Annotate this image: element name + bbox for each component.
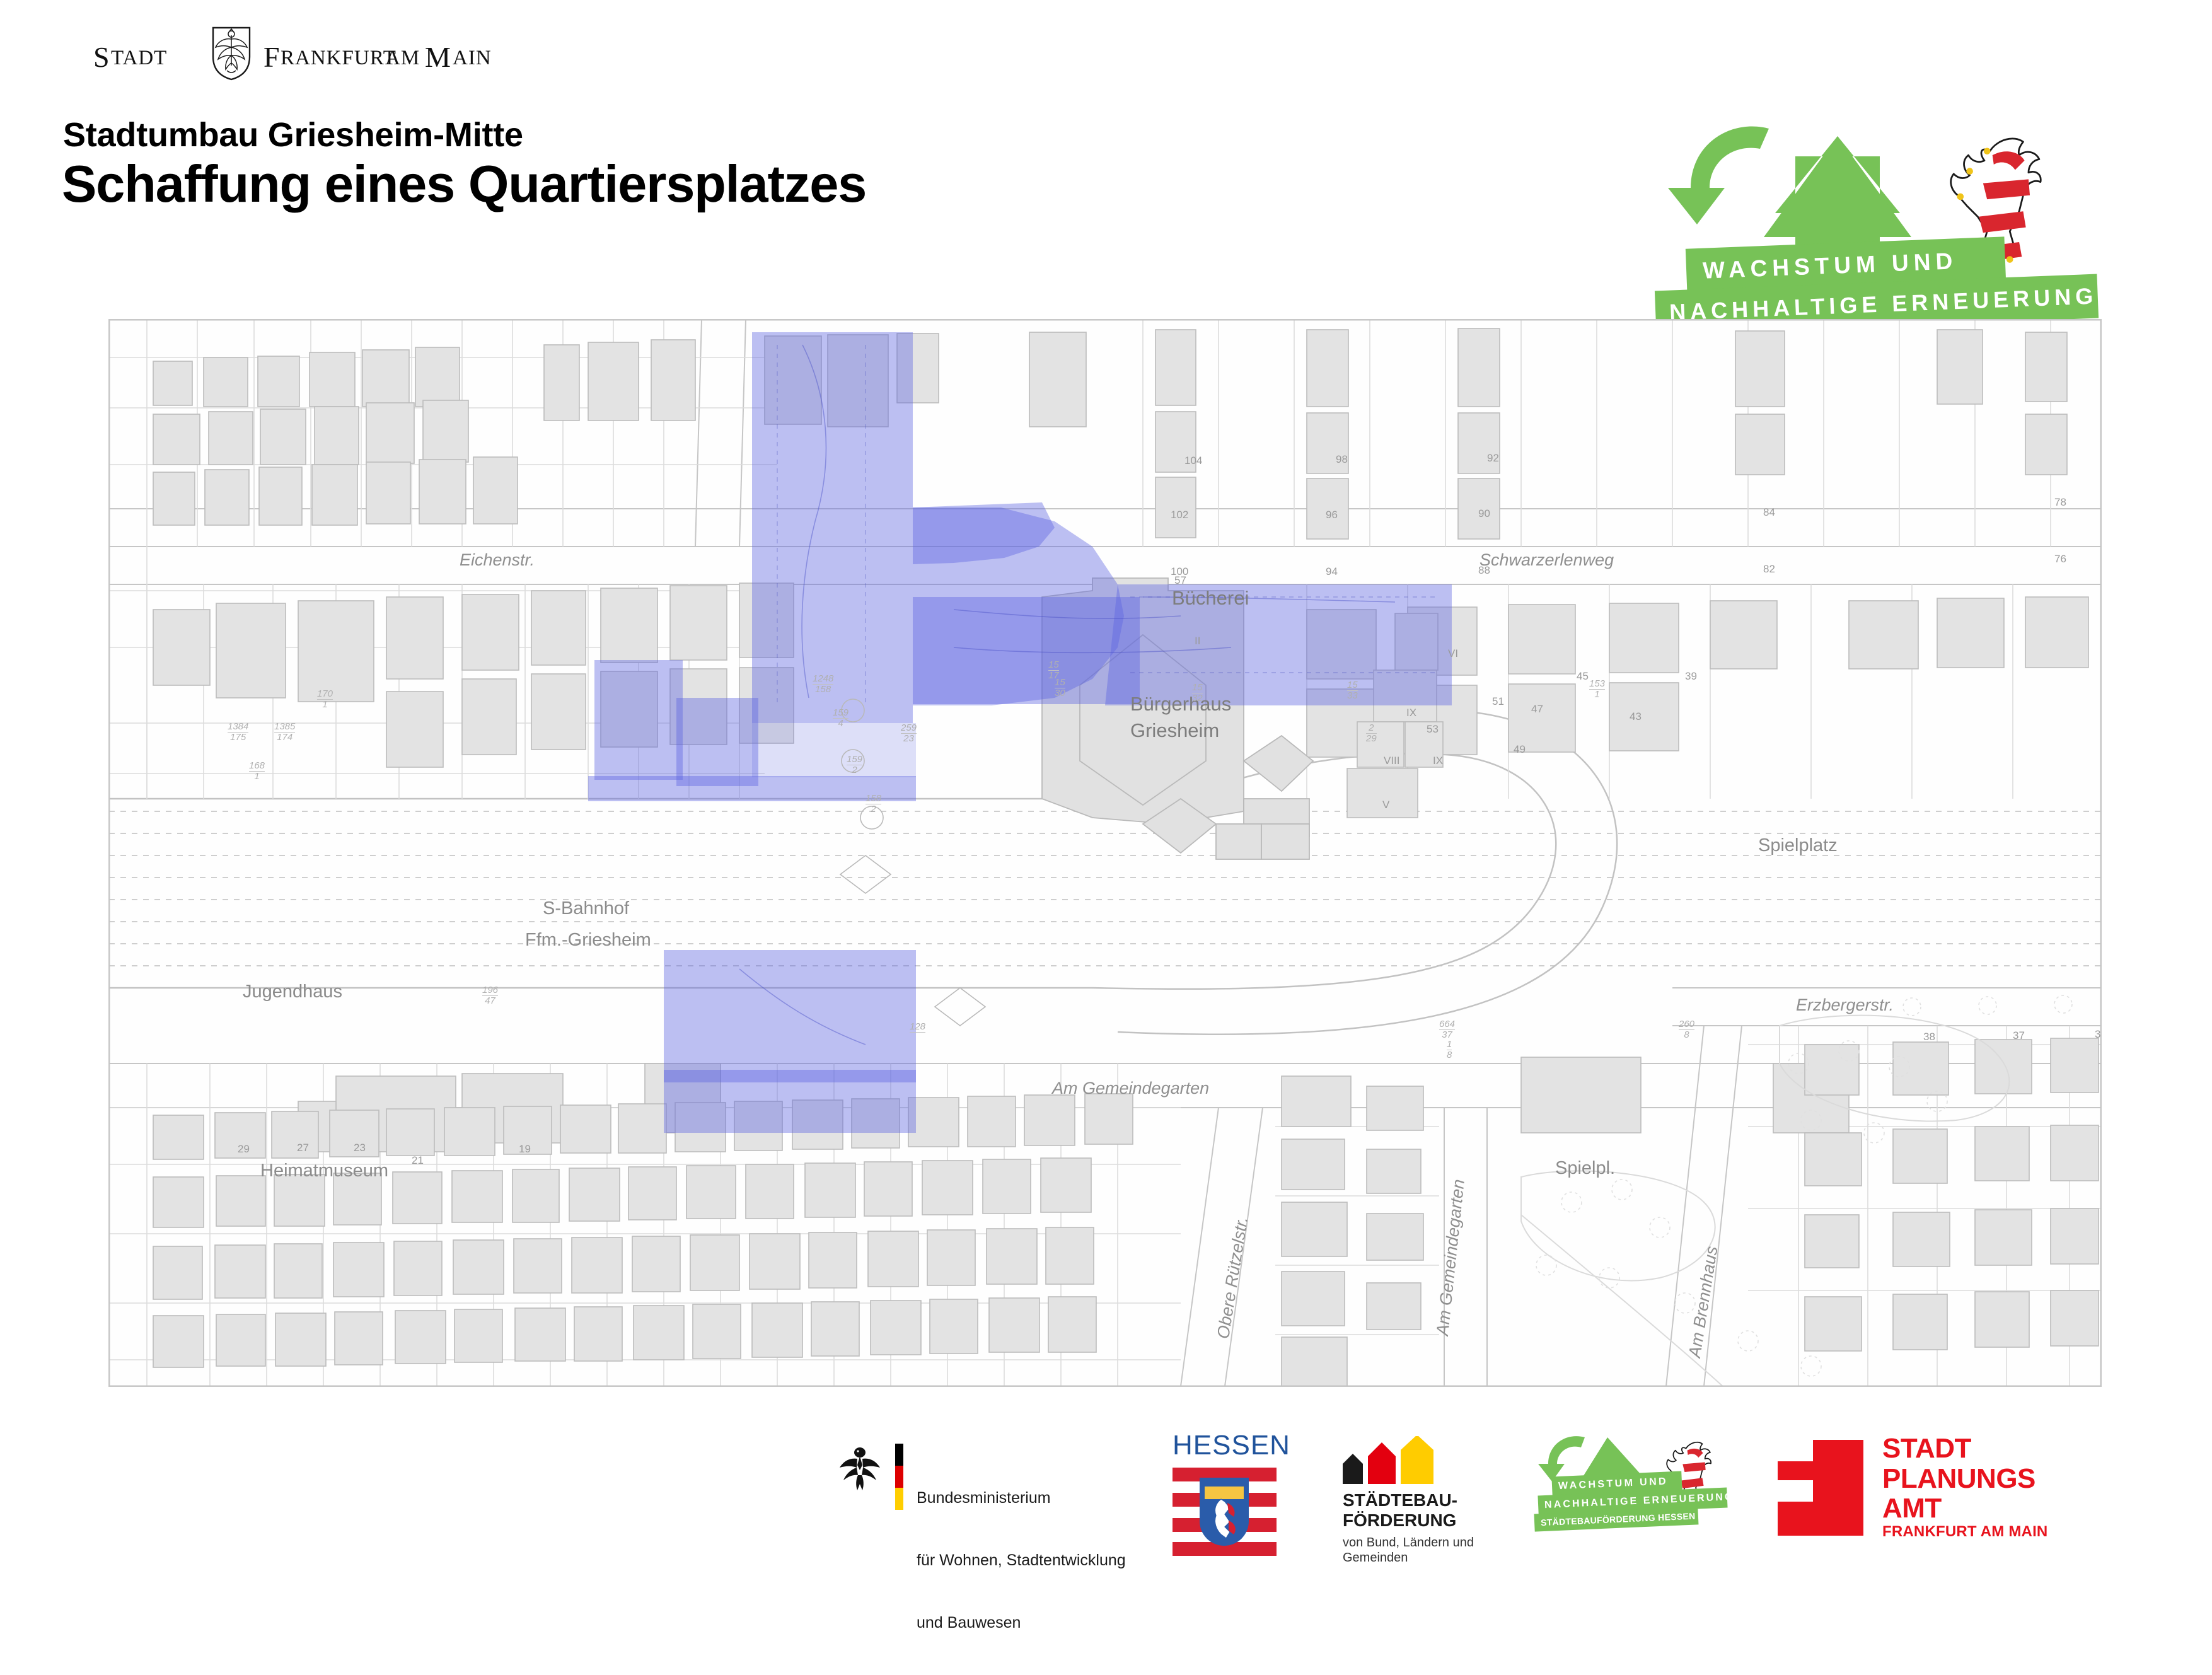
city-logo-word-stadt-s: S xyxy=(93,43,110,72)
place-label-ffm-griesheim: Ffm.-Griesheim xyxy=(525,930,651,951)
floor-count-VIII: VIII xyxy=(1384,755,1400,767)
sf-line-3: von Bund, Ländern und xyxy=(1343,1535,1494,1550)
building-number-92: 92 xyxy=(1487,452,1499,465)
parcel-fraction-159-2: 1592 xyxy=(847,755,862,775)
building-number-37: 37 xyxy=(2013,1029,2025,1042)
parcel-fraction-15-32: 1532 xyxy=(1192,683,1203,704)
parcel-fraction-1248-158: 1248158 xyxy=(813,674,833,695)
spa-line-3: AMT xyxy=(1882,1493,2035,1524)
place-label-jugendhaus: Jugendhaus xyxy=(243,982,342,1002)
street-label-schwarzerlenweg: Schwarzerlenweg xyxy=(1479,550,1614,570)
street-label-eichenstr: Eichenstr. xyxy=(460,550,535,570)
floor-count-II-buecherei: II xyxy=(1195,635,1200,647)
parcel-fraction-2-29: 229 xyxy=(1366,723,1377,744)
city-logo-word-frankfurt-rest: RANKFURT xyxy=(281,48,397,69)
place-label-spielplatz: Spielplatz xyxy=(1758,835,1838,856)
building-number-76: 76 xyxy=(2054,553,2066,565)
floor-count-VI: VI xyxy=(1448,647,1458,660)
hessen-coat-of-arms-icon xyxy=(1173,1465,1277,1555)
german-flag-bar-icon xyxy=(895,1444,903,1510)
street-label-am-gemeindegarten: Am Gemeindegarten xyxy=(1052,1079,1209,1098)
logo-bundesministerium: Bundesministerium für Wohnen, Stadtentwi… xyxy=(838,1437,1166,1532)
project-programme-subtitle: Stadtumbau Griesheim-Mitte xyxy=(63,115,523,154)
place-label-griesheim: Griesheim xyxy=(1130,719,1219,742)
building-number-38: 38 xyxy=(1923,1031,1935,1043)
floor-count-IX: IX xyxy=(1406,707,1416,719)
building-number-94: 94 xyxy=(1326,565,1338,578)
federal-eagle-icon xyxy=(838,1442,881,1497)
building-number-36: 36 xyxy=(2095,1028,2102,1041)
poster-footer-logos: Bundesministerium für Wohnen, Stadtentwi… xyxy=(0,1418,2212,1563)
logo-hessen: HESSEN xyxy=(1173,1430,1280,1550)
place-label-heimatmuseum: Heimatmuseum xyxy=(260,1161,388,1181)
sf-line-4: Gemeinden xyxy=(1343,1550,1494,1565)
building-number-90: 90 xyxy=(1478,507,1490,520)
logo-staedtebaufoerderung: STÄDTEBAU- FÖRDERUNG von Bund, Ländern u… xyxy=(1343,1436,1494,1550)
building-number-53: 53 xyxy=(1427,723,1439,736)
spa-block-mark-icon xyxy=(1778,1440,1863,1536)
poster-header: S TADT F RANKFURT AM M AIN Stadtumbau Gr… xyxy=(0,0,2212,315)
building-number-78: 78 xyxy=(2054,496,2066,509)
bmw-line-3: und Bauwesen xyxy=(917,1613,1126,1633)
floor-count-V: V xyxy=(1382,799,1389,811)
building-number-102: 102 xyxy=(1171,509,1188,521)
building-number-21: 21 xyxy=(412,1154,424,1167)
parcel-fraction-1385-174: 1385174 xyxy=(274,722,295,743)
parcel-fraction-260-8: 2608 xyxy=(1679,1019,1694,1040)
parcel-fraction-1-8: 18 xyxy=(1447,1040,1452,1060)
building-number-51: 51 xyxy=(1492,695,1504,708)
building-number-98: 98 xyxy=(1336,453,1348,466)
page-title: Schaffung eines Quartiersplatzes xyxy=(62,154,866,214)
building-number-104: 104 xyxy=(1184,455,1202,467)
building-number-49: 49 xyxy=(1514,743,1526,756)
frankfurt-eagle-crest-icon xyxy=(212,26,251,81)
three-houses-icon xyxy=(1343,1436,1494,1484)
parcel-fraction-259-23: 25923 xyxy=(901,723,917,744)
city-logo-word-am: AM xyxy=(385,48,420,69)
parcel-fraction-15-30: 1530 xyxy=(1055,678,1065,698)
city-logo-word-frankfurt-f: F xyxy=(263,43,281,72)
parcel-fraction-168-1: 1681 xyxy=(249,761,265,782)
logo-wachstum-hessen-footer: WACHSTUM UND NACHHALTIGE ERNEUERUNG STÄD… xyxy=(1538,1430,1752,1550)
city-of-frankfurt-logo: S TADT F RANKFURT AM M AIN xyxy=(93,32,497,82)
building-number-100: 100 xyxy=(1171,565,1188,578)
building-number-27: 27 xyxy=(297,1142,309,1154)
place-label-buergerhaus: Bürgerhaus xyxy=(1130,693,1231,716)
city-logo-word-main-m: M xyxy=(425,43,451,72)
parcel-fraction-159-4: 1594 xyxy=(833,708,848,729)
city-logo-word-main-rest: AIN xyxy=(453,48,492,69)
logo-stadtplanungsamt: STADT PLANUNGS AMT FRANKFURT AM MAIN xyxy=(1778,1431,2105,1551)
building-number-29: 29 xyxy=(238,1143,250,1156)
spa-line-1: STADT xyxy=(1882,1434,2035,1464)
sf-line-2: FÖRDERUNG xyxy=(1343,1510,1494,1531)
parcel-fraction-15-33: 1533 xyxy=(1347,680,1358,701)
building-number-47: 47 xyxy=(1531,703,1543,716)
building-number-88: 88 xyxy=(1478,564,1490,577)
building-number-23: 23 xyxy=(354,1142,366,1154)
sf-line-1: STÄDTEBAU- xyxy=(1343,1490,1494,1510)
street-label-erzbergerstr: Erzbergerstr. xyxy=(1796,995,1894,1015)
parcel-fraction-196-47: 19647 xyxy=(482,985,498,1006)
spa-line-2: PLANUNGS xyxy=(1882,1464,2035,1494)
bmw-line-1: Bundesministerium xyxy=(917,1488,1126,1509)
cadastral-site-map[interactable]: Eichenstr. Schwarzerlenweg Erzbergerstr.… xyxy=(108,319,2102,1387)
parcel-fraction-158-2: 1582 xyxy=(866,794,881,814)
spa-subtitle: FRANKFURT AM MAIN xyxy=(1882,1523,2047,1541)
parcel-fraction-664-37: 66437 xyxy=(1439,1019,1455,1040)
parcel-fraction-153-1: 1531 xyxy=(1589,679,1605,700)
parcel-fraction-128: 128 xyxy=(910,1022,925,1033)
hessen-label: HESSEN xyxy=(1173,1430,1280,1461)
building-number-43: 43 xyxy=(1630,710,1642,723)
bmw-line-2: für Wohnen, Stadtentwicklung xyxy=(917,1550,1126,1571)
building-number-82: 82 xyxy=(1763,563,1775,576)
place-label-buecherei: Bücherei xyxy=(1172,587,1249,610)
place-label-spielpl: Spielpl. xyxy=(1555,1158,1615,1179)
place-label-s-bahnhof: S-Bahnhof xyxy=(543,898,629,919)
parcel-fraction-170-1: 1701 xyxy=(317,689,333,710)
building-number-39: 39 xyxy=(1685,670,1697,683)
building-number-19: 19 xyxy=(519,1143,531,1156)
building-number-45: 45 xyxy=(1577,670,1589,683)
parcel-fraction-15-17: 1517 xyxy=(1048,660,1059,681)
parcel-fraction-1384-175: 1384175 xyxy=(228,722,248,743)
floor-count-IX-2: IX xyxy=(1433,755,1443,767)
city-logo-word-stadt-rest: TADT xyxy=(111,48,167,69)
building-number-84: 84 xyxy=(1763,506,1775,519)
building-number-96: 96 xyxy=(1326,509,1338,521)
